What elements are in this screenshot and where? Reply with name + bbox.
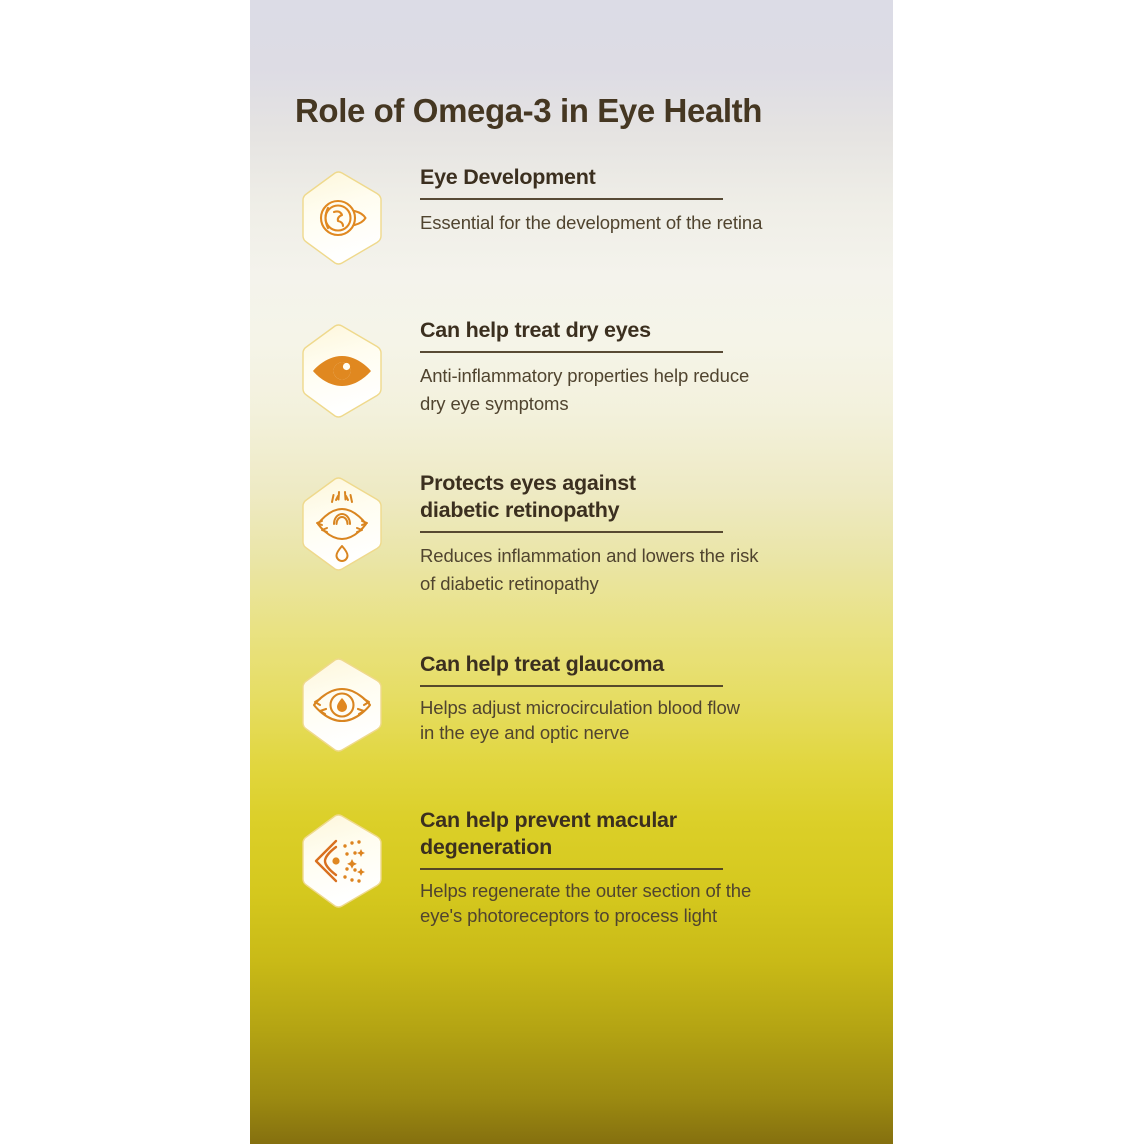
- divider: [420, 351, 723, 353]
- list-item-heading: Eye Development: [420, 164, 890, 191]
- list-item-heading: Protects eyes against diabetic retinopat…: [420, 470, 890, 524]
- list-item-body: Anti-inflammatory properties help reduce…: [420, 362, 890, 418]
- divider: [420, 198, 723, 200]
- list-item-text: Can help treat glaucoma Helps adjust mic…: [420, 645, 890, 746]
- list-item-heading: Can help prevent macular degeneration: [420, 807, 890, 861]
- eye-icon: [298, 323, 386, 419]
- irritated-eye-teardrop-icon: [298, 476, 386, 572]
- divider: [420, 685, 723, 687]
- divider: [420, 531, 723, 533]
- list-item-text: Can help prevent macular degeneration He…: [420, 801, 890, 929]
- list-item-body: Essential for the development of the ret…: [420, 209, 890, 237]
- list-item: Eye Development Essential for the develo…: [290, 158, 890, 266]
- list-item-text: Eye Development Essential for the develo…: [420, 158, 890, 237]
- blurred-vision-eye-icon: [298, 813, 386, 909]
- list-item: Can help treat glaucoma Helps adjust mic…: [290, 645, 890, 753]
- list-item: Can help treat dry eyes Anti-inflammator…: [290, 311, 890, 419]
- list-item: Can help prevent macular degeneration He…: [290, 801, 890, 929]
- poster-canvas: Role of Omega-3 in Eye Health: [0, 0, 1144, 1144]
- list-item-text: Can help treat dry eyes Anti-inflammator…: [420, 311, 890, 418]
- eye-pressure-icon: [298, 657, 386, 753]
- eyeball-anatomy-icon: [298, 170, 386, 266]
- list-item: Protects eyes against diabetic retinopat…: [290, 464, 890, 597]
- list-item-text: Protects eyes against diabetic retinopat…: [420, 464, 890, 597]
- divider: [420, 868, 723, 870]
- list-item-body: Helps regenerate the outer section of th…: [420, 879, 890, 929]
- list-item-body: Reduces inflammation and lowers the risk…: [420, 542, 890, 597]
- infographic-panel: Role of Omega-3 in Eye Health: [250, 0, 893, 1144]
- list-item-heading: Can help treat glaucoma: [420, 651, 890, 678]
- list-item-body: Helps adjust microcirculation blood flow…: [420, 696, 890, 746]
- list-item-heading: Can help treat dry eyes: [420, 317, 890, 344]
- page-title: Role of Omega-3 in Eye Health: [295, 92, 865, 130]
